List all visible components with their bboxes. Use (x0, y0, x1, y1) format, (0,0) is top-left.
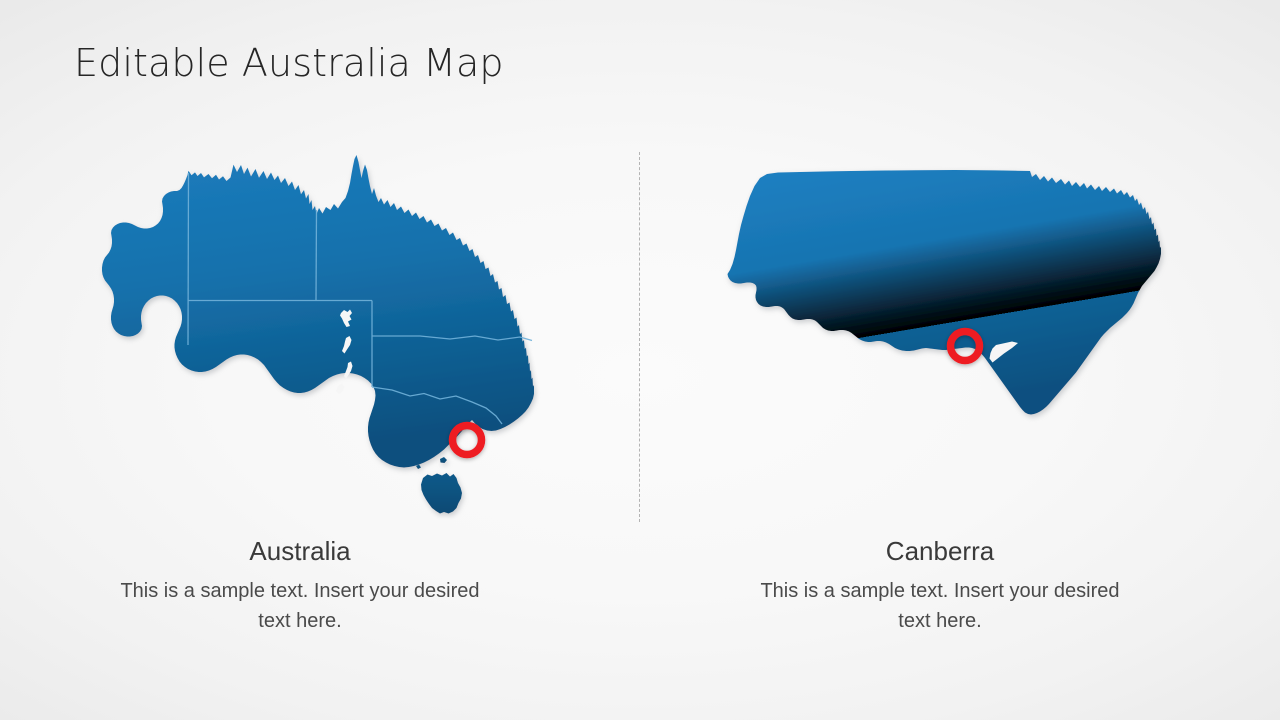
panel-australia: Australia This is a sample text. Insert … (20, 150, 580, 660)
new-south-wales-map-stage (660, 150, 1220, 540)
caption-title-australia: Australia (20, 536, 580, 567)
canberra-location-marker[interactable] (453, 426, 482, 455)
caption-canberra: Canberra This is a sample text. Insert y… (660, 536, 1220, 636)
tasmania-island[interactable] (416, 457, 462, 514)
caption-body-australia: This is a sample text. Insert your desir… (120, 577, 480, 636)
caption-body-canberra: This is a sample text. Insert your desir… (760, 577, 1120, 636)
caption-title-canberra: Canberra (660, 536, 1220, 567)
panel-canberra: Canberra This is a sample text. Insert y… (660, 150, 1220, 660)
australia-landmass[interactable] (102, 155, 534, 468)
caption-australia: Australia This is a sample text. Insert … (20, 536, 580, 636)
nsw-landmass[interactable] (728, 170, 1162, 415)
vertical-dashed-divider (639, 152, 640, 522)
slide-canvas: Editable Australia Map (0, 0, 1280, 720)
australia-map-stage (20, 150, 580, 540)
page-title: Editable Australia Map (74, 42, 504, 85)
